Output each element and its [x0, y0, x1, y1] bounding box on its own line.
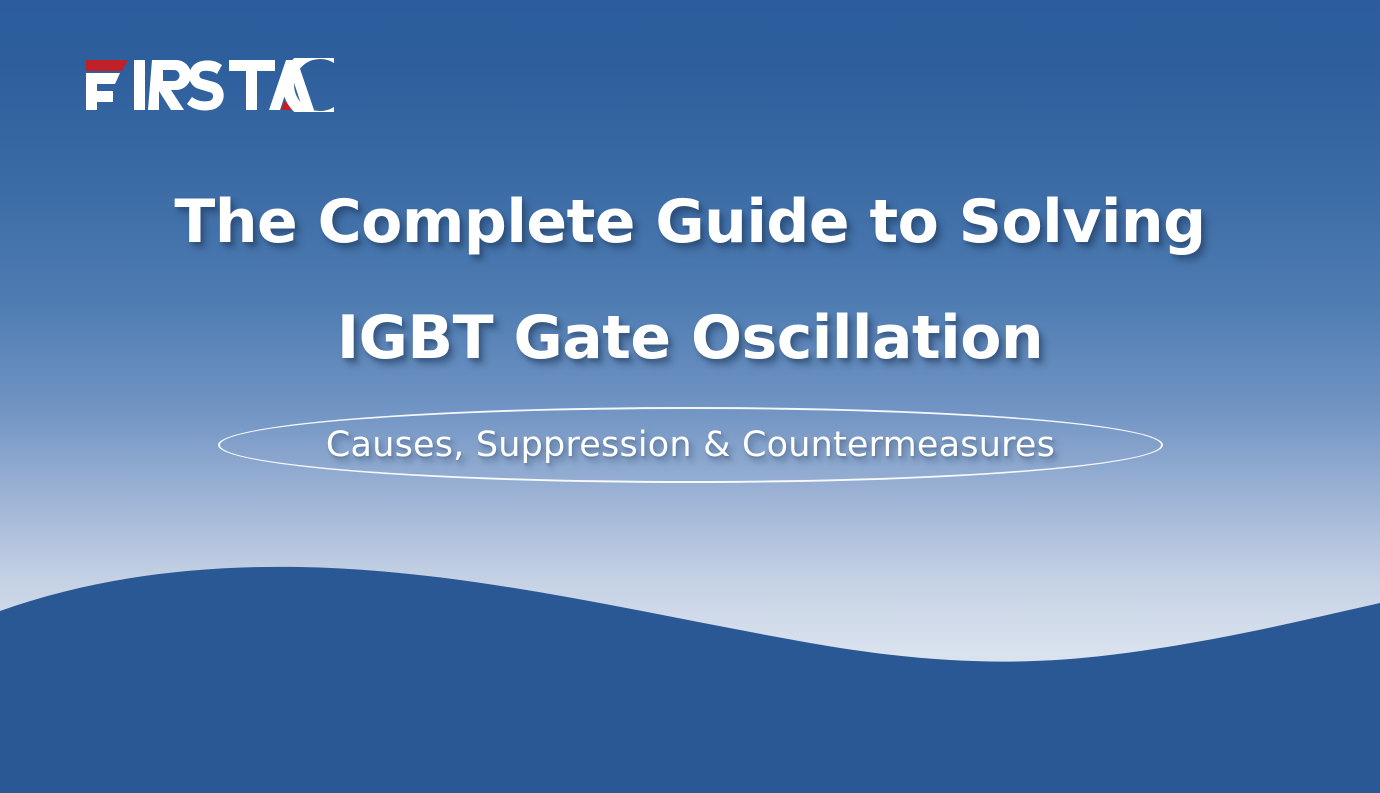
- headline-line-1: The Complete Guide to Solving: [0, 164, 1380, 280]
- logo-f-red-bar: [86, 60, 128, 71]
- bottom-wave: [0, 533, 1380, 793]
- page-title: The Complete Guide to Solving IGBT Gate …: [0, 164, 1380, 396]
- logo-f-white-stem: [86, 73, 120, 110]
- title-slide: The Complete Guide to Solving IGBT Gate …: [0, 0, 1380, 793]
- bottom-wave-shape: [0, 567, 1380, 793]
- logo-letters-irst: [134, 60, 275, 111]
- subtitle-pill: Causes, Suppression & Countermeasures: [218, 407, 1163, 483]
- subtitle-text: Causes, Suppression & Countermeasures: [326, 425, 1055, 465]
- headline-line-2: IGBT Gate Oscillation: [0, 280, 1380, 396]
- firstack-logo[interactable]: [84, 58, 334, 112]
- logo-letter-f: [86, 60, 128, 110]
